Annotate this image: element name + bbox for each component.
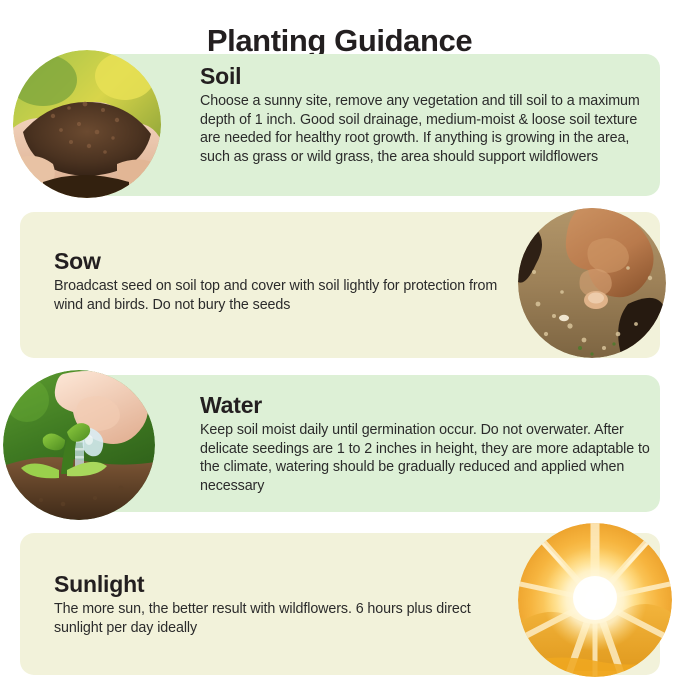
card-text-water: Keep soil moist daily until germination … <box>200 421 650 495</box>
hands-holding-soil-photo <box>13 50 161 198</box>
hand-sowing-seed-photo <box>518 208 666 358</box>
card-body-sunlight: Sunlight The more sun, the better result… <box>54 571 484 637</box>
sun-rays-photo <box>518 523 672 677</box>
card-body-soil: Soil Choose a sunny site, remove any veg… <box>200 63 650 166</box>
card-text-sow: Broadcast seed on soil top and cover wit… <box>54 277 504 314</box>
card-heading-soil: Soil <box>200 63 650 90</box>
card-heading-water: Water <box>200 392 650 419</box>
card-body-sow: Sow Broadcast seed on soil top and cover… <box>54 248 504 314</box>
card-text-sunlight: The more sun, the better result with wil… <box>54 600 484 637</box>
card-text-soil: Choose a sunny site, remove any vegetati… <box>200 92 650 166</box>
card-body-water: Water Keep soil moist daily until germin… <box>200 392 650 495</box>
watering-seedling-photo <box>3 370 155 520</box>
card-heading-sunlight: Sunlight <box>54 571 484 598</box>
card-heading-sow: Sow <box>54 248 504 275</box>
